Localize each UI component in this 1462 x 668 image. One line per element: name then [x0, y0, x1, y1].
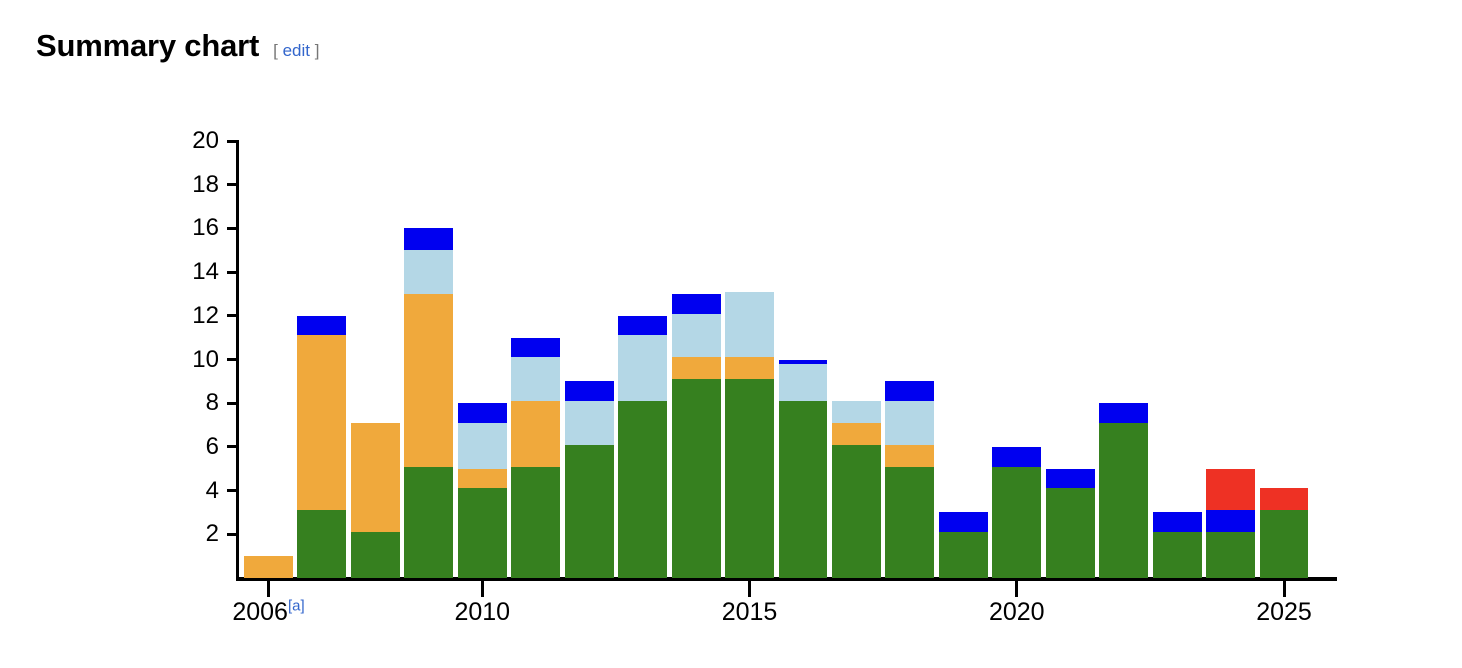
x-axis-tick-label: 2015 — [722, 600, 778, 625]
bar-segment-blue — [1099, 403, 1148, 423]
y-axis-tick-mark — [227, 445, 239, 448]
summary-chart: 2468101214161820 2006[a]2010201520202025 — [0, 0, 1462, 668]
y-axis-tick-mark — [227, 183, 239, 186]
bar-segment-orange — [351, 423, 400, 532]
footnote-marker[interactable]: [a] — [288, 598, 305, 615]
bar-segment-blue — [404, 228, 453, 250]
bar-segment-orange — [404, 294, 453, 467]
bar-segment-red — [1206, 469, 1255, 511]
bar-segment-orange — [672, 357, 721, 379]
bar-segment-blue — [992, 447, 1041, 467]
bar-column — [939, 141, 988, 578]
bar-segment-blue — [885, 381, 934, 401]
bar-segment-green — [297, 510, 346, 578]
y-axis-tick-mark — [227, 489, 239, 492]
y-axis-tick-mark — [227, 227, 239, 230]
bar-column — [832, 141, 881, 578]
bar-column — [992, 141, 1041, 578]
bar-segment-green — [832, 445, 881, 578]
bar-segment-green — [458, 488, 507, 578]
bar-segment-light-blue — [725, 292, 774, 358]
bar-segment-light-blue — [885, 401, 934, 445]
bar-segment-light-blue — [779, 364, 828, 401]
bar-segment-green — [404, 467, 453, 578]
bar-column — [404, 141, 453, 578]
bar-segment-blue — [672, 294, 721, 314]
y-axis-tick-label: 20 — [163, 129, 219, 153]
bar-segment-light-blue — [458, 423, 507, 469]
bar-segment-green — [885, 467, 934, 578]
y-axis-tick-label: 12 — [163, 304, 219, 328]
bar-segment-green — [1046, 488, 1095, 578]
y-axis-tick-mark — [227, 271, 239, 274]
bar-column — [672, 141, 721, 578]
y-axis-tick-label: 4 — [163, 479, 219, 503]
x-axis-tick-label: 2020 — [989, 600, 1045, 625]
y-axis-tick-label: 16 — [163, 216, 219, 240]
bar-segment-green — [1099, 423, 1148, 578]
bar-segment-blue — [297, 316, 346, 336]
bar-column — [725, 141, 774, 578]
bar-column — [1206, 141, 1255, 578]
bar-segment-blue — [458, 403, 507, 423]
y-axis-tick-label: 6 — [163, 435, 219, 459]
bar-segment-orange — [297, 335, 346, 510]
bar-column — [511, 141, 560, 578]
bar-segment-blue — [1153, 512, 1202, 532]
bar-segment-green — [1153, 532, 1202, 578]
y-axis-tick-label: 10 — [163, 348, 219, 372]
y-axis-tick-label: 14 — [163, 260, 219, 284]
y-axis-tick-mark — [227, 533, 239, 536]
bar-segment-light-blue — [565, 401, 614, 445]
bar-segment-green — [511, 467, 560, 578]
y-axis-tick-label: 18 — [163, 173, 219, 197]
bar-column — [779, 141, 828, 578]
x-axis-tick-mark — [481, 581, 484, 597]
bar-segment-orange — [244, 556, 293, 578]
x-axis-tick-label: 2025 — [1256, 600, 1312, 625]
bar-segment-orange — [832, 423, 881, 445]
bar-column — [351, 141, 400, 578]
y-axis-tick-label: 8 — [163, 391, 219, 415]
x-axis-tick-label: 2010 — [454, 600, 510, 625]
bar-segment-light-blue — [618, 335, 667, 401]
bar-segment-green — [672, 379, 721, 578]
y-axis-tick-mark — [227, 140, 239, 143]
x-axis-tick-mark — [1283, 581, 1286, 597]
bar-segment-red — [1260, 488, 1309, 510]
x-axis-tick-mark — [748, 581, 751, 597]
bar-column — [1099, 141, 1148, 578]
bar-segment-blue — [779, 360, 828, 364]
bar-segment-green — [351, 532, 400, 578]
y-axis-tick-mark — [227, 402, 239, 405]
bar-segment-light-blue — [832, 401, 881, 423]
y-axis-tick-label: 2 — [163, 522, 219, 546]
bar-column — [297, 141, 346, 578]
bar-column — [1046, 141, 1095, 578]
bar-column — [244, 141, 293, 578]
bar-segment-green — [992, 467, 1041, 578]
plot-area — [244, 141, 1313, 578]
bar-segment-green — [1206, 532, 1255, 578]
footnote-link-a[interactable]: [a] — [288, 598, 305, 615]
bar-segment-blue — [565, 381, 614, 401]
x-axis-tick-mark — [267, 581, 270, 597]
bar-column — [1260, 141, 1309, 578]
bar-segment-green — [1260, 510, 1309, 578]
bar-segment-light-blue — [672, 314, 721, 358]
bar-segment-orange — [725, 357, 774, 379]
bar-segment-light-blue — [404, 250, 453, 294]
x-axis-tick-label: 2006[a] — [232, 600, 304, 625]
bar-segment-green — [779, 401, 828, 578]
bar-segment-green — [939, 532, 988, 578]
bar-segment-green — [618, 401, 667, 578]
x-axis-tick-mark — [1015, 581, 1018, 597]
bar-column — [885, 141, 934, 578]
bar-segment-light-blue — [511, 357, 560, 401]
bar-segment-blue — [1046, 469, 1095, 489]
bar-column — [618, 141, 667, 578]
y-axis-tick-mark — [227, 358, 239, 361]
bar-segment-blue — [939, 512, 988, 532]
bar-column — [458, 141, 507, 578]
bar-segment-blue — [618, 316, 667, 336]
bar-column — [1153, 141, 1202, 578]
bar-segment-orange — [511, 401, 560, 467]
bar-segment-blue — [1206, 510, 1255, 532]
bar-segment-green — [565, 445, 614, 578]
bar-column — [565, 141, 614, 578]
y-axis-tick-mark — [227, 314, 239, 317]
bar-segment-orange — [885, 445, 934, 467]
bar-segment-blue — [511, 338, 560, 358]
bar-segment-green — [725, 379, 774, 578]
bar-segment-orange — [458, 469, 507, 489]
